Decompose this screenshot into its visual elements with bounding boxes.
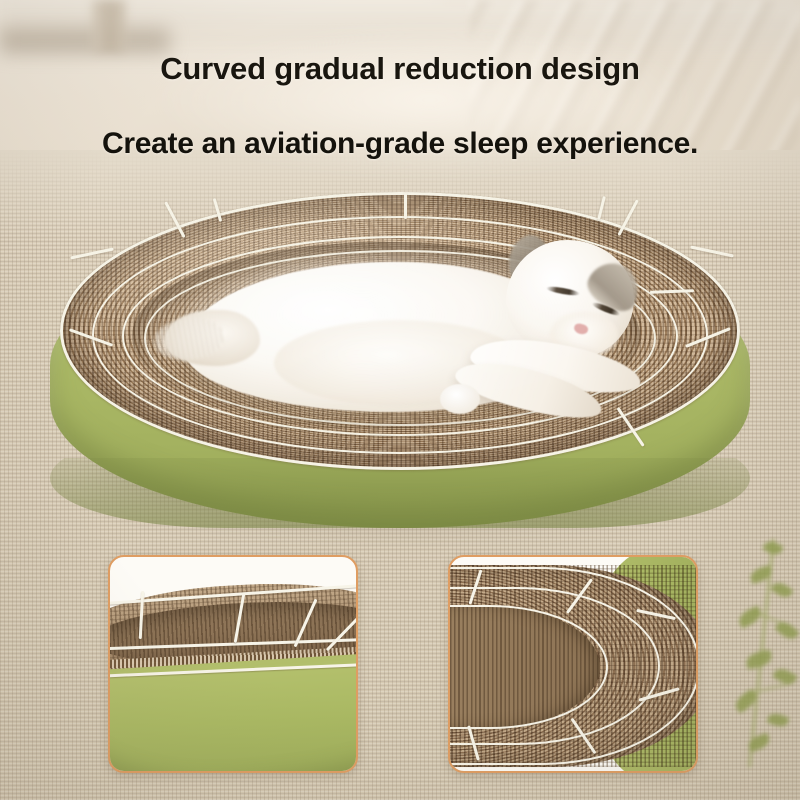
image-vignette <box>0 0 800 800</box>
product-marketing-image: Curved gradual reduction design Create a… <box>0 0 800 800</box>
